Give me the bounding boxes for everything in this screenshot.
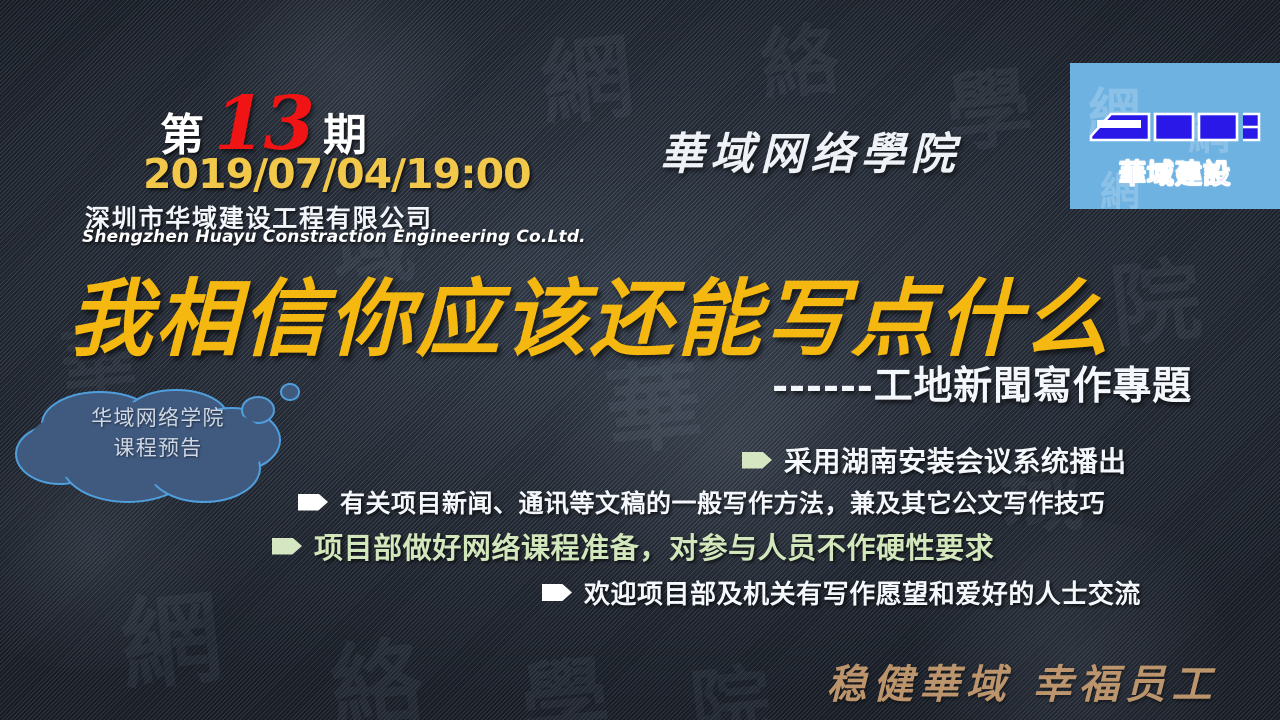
logo-wordmark: 華域建設 bbox=[1119, 152, 1231, 191]
arrow-tag-icon bbox=[542, 584, 572, 601]
academy-brand: 華域网络學院 bbox=[660, 118, 961, 182]
background-watermark: 網 bbox=[533, 1, 649, 144]
event-datetime: 2019/07/04/19:00 bbox=[143, 150, 531, 198]
issue-line: 第 13 期 bbox=[160, 88, 367, 158]
company-logo: 網 網 網 華域建設 bbox=[1070, 63, 1280, 209]
poster-canvas: 網 絡 學 院 華 域 網 絡 學 院 華 域 第 13 期 2019/07/0… bbox=[0, 0, 1280, 720]
arrow-tag-icon bbox=[742, 452, 772, 469]
bullet-item: 欢迎项目部及机关有写作愿望和爱好的人士交流 bbox=[542, 574, 1141, 611]
cloud-text: 华域网络学院 课程预告 bbox=[8, 404, 308, 464]
bullet-text: 采用湖南安装会议系统播出 bbox=[784, 440, 1127, 480]
thought-cloud: 华域网络学院 课程预告 bbox=[8, 382, 308, 512]
bullet-item: 有关项目新闻、通讯等文稿的一般写作方法，兼及其它公文写作技巧 bbox=[298, 484, 1105, 520]
background-watermark: 絡 bbox=[323, 605, 439, 720]
company-name-en: Shengzhen Huayu Constraction Engineering… bbox=[82, 227, 586, 247]
background-watermark: 絡 bbox=[754, 0, 853, 116]
bullet-item: 采用湖南安装会议系统播出 bbox=[742, 440, 1127, 480]
sub-title: ------工地新聞寫作專題 bbox=[772, 355, 1192, 411]
footer-slogan: 稳健華域 幸福员工 bbox=[826, 652, 1218, 710]
issue-number: 13 bbox=[214, 90, 313, 158]
background-watermark: 學 bbox=[514, 625, 625, 720]
bullet-text: 欢迎项目部及机关有写作愿望和爱好的人士交流 bbox=[584, 574, 1141, 611]
bullet-item: 项目部做好网络课程准备，对参与人员不作硬性要求 bbox=[272, 525, 994, 567]
background-watermark: 院 bbox=[684, 636, 785, 720]
arrow-tag-icon bbox=[272, 538, 302, 555]
bullet-text: 有关项目新闻、通讯等文稿的一般写作方法，兼及其它公文写作技巧 bbox=[340, 484, 1105, 520]
train-mark-icon bbox=[1087, 106, 1263, 150]
cloud-line-1: 华域网络学院 bbox=[8, 404, 308, 434]
cloud-line-2: 课程预告 bbox=[8, 434, 308, 464]
arrow-tag-icon bbox=[298, 494, 328, 511]
bullet-text: 项目部做好网络课程准备，对参与人员不作硬性要求 bbox=[314, 525, 994, 567]
background-watermark: 網 bbox=[113, 555, 240, 711]
